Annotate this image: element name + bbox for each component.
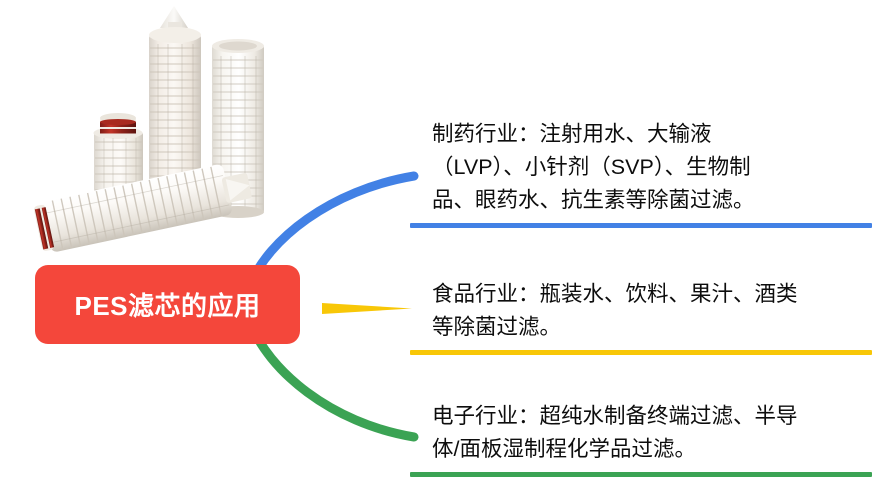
branch-electronics-text: 电子行业：超纯水制备终端过滤、半导 体/面板湿制程化学品过滤。 xyxy=(410,400,872,466)
branch-electronics[interactable]: 电子行业：超纯水制备终端过滤、半导 体/面板湿制程化学品过滤。 xyxy=(410,400,872,477)
center-node-label: PES滤芯的应用 xyxy=(74,286,260,323)
branch-pharma-underline xyxy=(410,223,872,228)
branch-pharma[interactable]: 制药行业：注射用水、大输液 （LVP）、小针剂（SVP）、生物制 品、眼药水、抗… xyxy=(410,118,872,228)
cartridge-laying xyxy=(33,159,255,255)
infographic-canvas: PES滤芯的应用 制药行业：注射用水、大输液 （LVP）、小针剂（SVP）、生物… xyxy=(0,0,881,501)
cartridge-illustration xyxy=(18,0,328,262)
branch-food-text: 食品行业：瓶装水、饮料、果汁、酒类 等除菌过滤。 xyxy=(410,278,872,344)
branch-food[interactable]: 食品行业：瓶装水、饮料、果汁、酒类 等除菌过滤。 xyxy=(410,278,872,355)
center-node[interactable]: PES滤芯的应用 xyxy=(35,265,300,344)
cartridge-tall xyxy=(149,6,201,196)
branch-food-underline xyxy=(410,350,872,355)
connector-food-wedge xyxy=(322,303,412,314)
branch-electronics-underline xyxy=(410,472,872,477)
branch-pharma-text: 制药行业：注射用水、大输液 （LVP）、小针剂（SVP）、生物制 品、眼药水、抗… xyxy=(410,118,872,217)
filter-cartridge-photo xyxy=(18,0,328,262)
